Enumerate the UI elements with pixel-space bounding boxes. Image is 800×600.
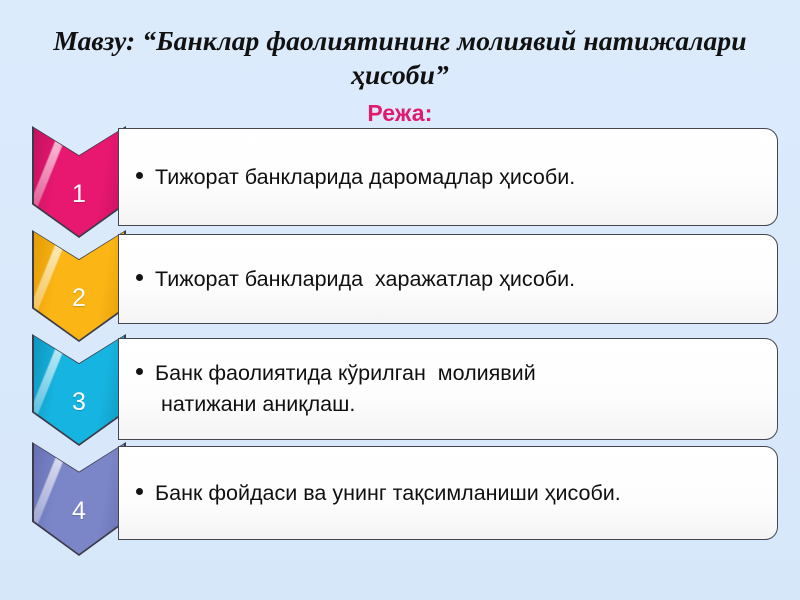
plan-item-panel-inner: Банк фаолиятида кўрилган молиявий натижа… xyxy=(119,358,777,420)
slide-title-line-1: Мавзу: “Банклар фаолиятининг молиявий на… xyxy=(14,24,786,58)
slide-title: Мавзу: “Банклар фаолиятининг молиявий на… xyxy=(14,24,786,92)
chevron-number-label: 3 xyxy=(34,388,124,417)
bullet-icon xyxy=(136,274,143,281)
plan-item-text: Тижорат банкларида даромадлар ҳисоби. xyxy=(155,162,575,193)
plan-item-panel-inner: Тижорат банкларида даромадлар ҳисоби. xyxy=(119,162,777,193)
plan-item-text: Тижорат банкларида харажатлар ҳисоби. xyxy=(155,264,575,295)
plan-item-panel-4[interactable]: Банк фойдаси ва унинг тақсимланиши ҳисоб… xyxy=(118,446,778,540)
chevron-marker-2[interactable]: 2 xyxy=(34,232,124,340)
slide-title-line-2: ҳисоби” xyxy=(14,58,786,92)
bullet-icon xyxy=(136,172,143,179)
plan-subtitle: Режа: xyxy=(0,100,800,127)
chevron-number-label: 1 xyxy=(34,180,124,209)
plan-item-text: Банк фаолиятида кўрилган молиявий натижа… xyxy=(155,358,536,420)
plan-item-panel-1[interactable]: Тижорат банкларида даромадлар ҳисоби. xyxy=(118,128,778,226)
chevron-number-label: 2 xyxy=(34,284,124,313)
plan-item-panel-inner: Банк фойдаси ва унинг тақсимланиши ҳисоб… xyxy=(119,478,777,509)
plan-item-text: Банк фойдаси ва унинг тақсимланиши ҳисоб… xyxy=(155,478,621,509)
bullet-icon xyxy=(136,488,143,495)
chevron-marker-4[interactable]: 4 xyxy=(34,444,124,554)
slide-canvas: Мавзу: “Банклар фаолиятининг молиявий на… xyxy=(0,0,800,600)
chevron-number-label: 4 xyxy=(34,497,124,526)
plan-item-panel-3[interactable]: Банк фаолиятида кўрилган молиявий натижа… xyxy=(118,338,778,440)
chevron-marker-1[interactable]: 1 xyxy=(34,128,124,236)
plan-item-panel-inner: Тижорат банкларида харажатлар ҳисоби. xyxy=(119,264,777,295)
bullet-icon xyxy=(136,368,143,375)
plan-item-panel-2[interactable]: Тижорат банкларида харажатлар ҳисоби. xyxy=(118,234,778,324)
chevron-marker-3[interactable]: 3 xyxy=(34,336,124,444)
